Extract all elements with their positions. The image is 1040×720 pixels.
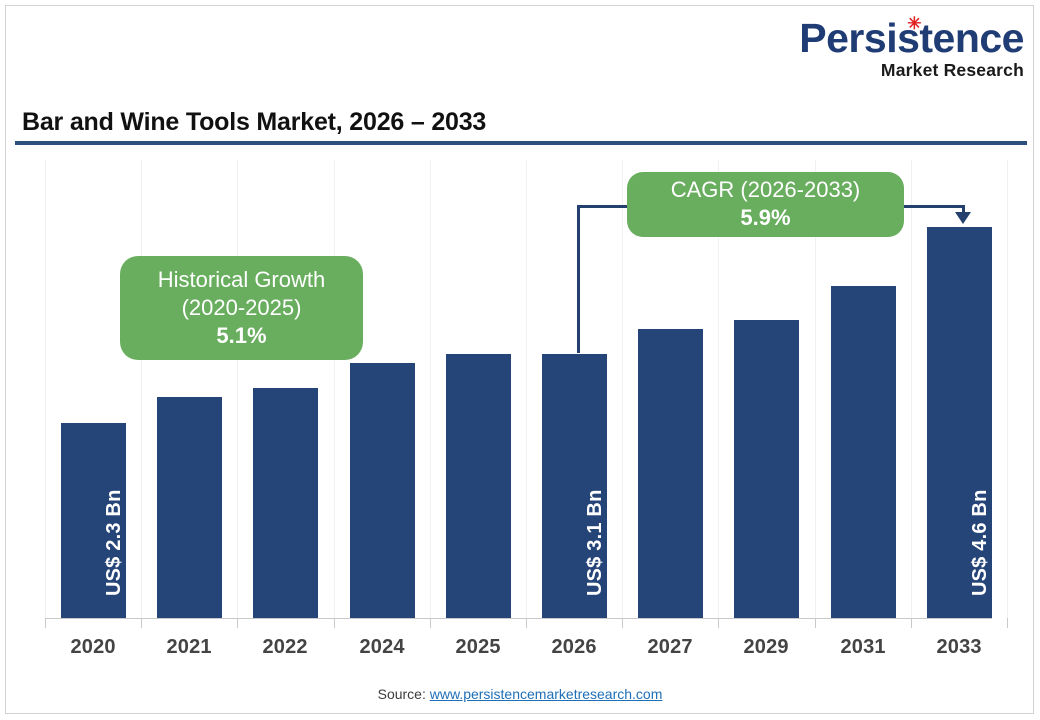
x-axis-label-2029: 2029 — [718, 636, 814, 659]
historical-growth-line1: Historical Growth — [158, 266, 325, 294]
x-axis-line — [45, 618, 992, 619]
historical-growth-value: 5.1% — [216, 322, 266, 351]
chart-page: Persistence ✳ Market Research Bar and Wi… — [0, 0, 1040, 720]
source-link[interactable]: www.persistencemarketresearch.com — [430, 686, 663, 702]
bar-value-label-2020: US$ 2.3 Bn — [103, 490, 126, 596]
bar-2027 — [638, 329, 703, 618]
cagr-value: 5.9% — [740, 204, 790, 233]
chart-plot-area: US$ 2.3 BnUS$ 3.1 BnUS$ 4.6 Bn 202020212… — [0, 0, 1040, 720]
x-axis-tick — [526, 618, 527, 628]
x-axis-tick — [334, 618, 335, 628]
gridline — [334, 160, 335, 618]
x-axis-tick — [1007, 618, 1008, 628]
x-axis-tick — [718, 618, 719, 628]
bar-value-label-2026: US$ 3.1 Bn — [584, 490, 607, 596]
bar-2031 — [831, 286, 896, 618]
gridline — [526, 160, 527, 618]
x-axis-label-2031: 2031 — [815, 636, 911, 659]
bar-2024 — [350, 363, 415, 618]
x-axis-tick — [430, 618, 431, 628]
bar-2022 — [253, 388, 318, 618]
bar-2029 — [734, 320, 799, 618]
x-axis-label-2026: 2026 — [526, 636, 622, 659]
x-axis-tick — [237, 618, 238, 628]
bar-2025 — [446, 354, 511, 618]
x-axis-tick — [622, 618, 623, 628]
gridline — [430, 160, 431, 618]
gridline — [911, 160, 912, 618]
x-axis-tick — [141, 618, 142, 628]
x-axis-label-2027: 2027 — [622, 636, 718, 659]
x-axis-label-2020: 2020 — [45, 636, 141, 659]
historical-growth-callout: Historical Growth (2020-2025) 5.1% — [120, 256, 363, 360]
gridline — [141, 160, 142, 618]
gridline — [1007, 160, 1008, 618]
connector-arrow-icon — [955, 212, 971, 224]
gridline — [45, 160, 46, 618]
cagr-line1: CAGR (2026-2033) — [671, 176, 861, 204]
cagr-callout: CAGR (2026-2033) 5.9% — [627, 172, 904, 237]
x-axis-label-2025: 2025 — [430, 636, 526, 659]
x-axis-tick — [815, 618, 816, 628]
x-axis-label-2022: 2022 — [237, 636, 333, 659]
source-prefix: Source: — [378, 686, 430, 702]
connector-left-vertical — [577, 205, 580, 353]
gridline — [622, 160, 623, 618]
historical-growth-line2: (2020-2025) — [182, 294, 302, 322]
bar-value-label-2033: US$ 4.6 Bn — [969, 490, 992, 596]
x-axis-tick — [45, 618, 46, 628]
bar-2021 — [157, 397, 222, 618]
source-line: Source: www.persistencemarketresearch.co… — [0, 686, 1040, 702]
x-axis-label-2033: 2033 — [911, 636, 1007, 659]
x-axis-label-2021: 2021 — [141, 636, 237, 659]
gridline — [237, 160, 238, 618]
x-axis-tick — [911, 618, 912, 628]
x-axis-label-2024: 2024 — [334, 636, 430, 659]
